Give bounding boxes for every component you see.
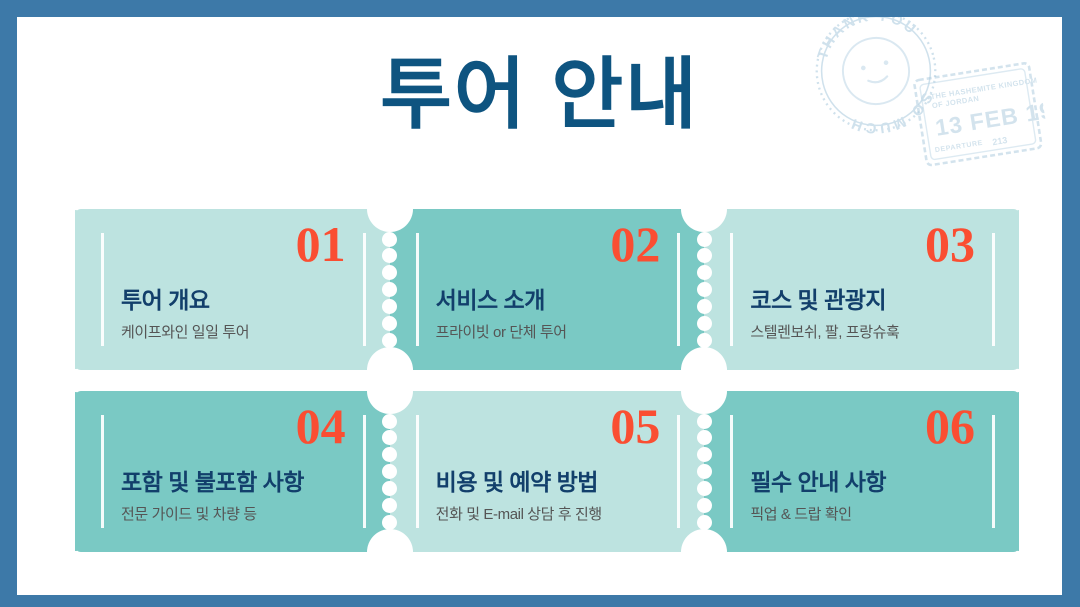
ticket-row-bottom: 04 포함 및 불포함 사항 전문 가이드 및 차량 등 05 비용 및 예약 …	[75, 391, 1019, 552]
ticket-content: 04 포함 및 불포함 사항 전문 가이드 및 차량 등	[121, 391, 348, 552]
ticket-number: 01	[296, 219, 346, 269]
ticket-rule-left	[730, 233, 733, 346]
ticket-subtitle: 케이프와인 일일 투어	[121, 321, 249, 342]
ticket-subtitle: 스텔렌보쉬, 팔, 프랑슈훅	[750, 321, 899, 342]
ticket-title: 서비스 소개	[436, 281, 545, 315]
ticket-content: 01 투어 개요 케이프와인 일일 투어	[121, 209, 348, 370]
ticket-rule-right	[677, 233, 680, 346]
ticket-content: 02 서비스 소개 프라이빗 or 단체 투어	[436, 209, 663, 370]
ticket-rule-left	[416, 415, 419, 528]
ticket-content: 03 코스 및 관광지 스텔렌보쉬, 팔, 프랑슈훅	[750, 209, 977, 370]
slide-frame: THANK YOU SO MUCH THE HASHEMITE KINGDOM …	[0, 0, 1080, 607]
ticket-number: 03	[925, 219, 975, 269]
ticket-number: 05	[610, 401, 660, 451]
ticket-content: 06 필수 안내 사항 픽업 & 드랍 확인	[750, 391, 977, 552]
ticket-number: 06	[925, 401, 975, 451]
ticket-card-06[interactable]: 06 필수 안내 사항 픽업 & 드랍 확인	[704, 391, 1019, 552]
ticket-rule-right	[992, 415, 995, 528]
ticket-title: 포함 및 불포함 사항	[121, 463, 304, 497]
ticket-number: 04	[296, 401, 346, 451]
ticket-title: 투어 개요	[121, 281, 210, 315]
ticket-subtitle: 전문 가이드 및 차량 등	[121, 503, 257, 524]
ticket-rule-left	[101, 233, 104, 346]
ticket-title: 필수 안내 사항	[750, 463, 886, 497]
ticket-card-01[interactable]: 01 투어 개요 케이프와인 일일 투어	[75, 209, 390, 370]
ticket-card-02[interactable]: 02 서비스 소개 프라이빗 or 단체 투어	[390, 209, 705, 370]
ticket-rule-right	[363, 415, 366, 528]
ticket-card-04[interactable]: 04 포함 및 불포함 사항 전문 가이드 및 차량 등	[75, 391, 390, 552]
ticket-rule-right	[363, 233, 366, 346]
ticket-title: 비용 및 예약 방법	[436, 463, 598, 497]
ticket-rule-left	[101, 415, 104, 528]
page-title: 투어 안내	[17, 55, 1062, 133]
ticket-content: 05 비용 및 예약 방법 전화 및 E-mail 상담 후 진행	[436, 391, 663, 552]
ticket-rule-right	[677, 415, 680, 528]
ticket-subtitle: 프라이빗 or 단체 투어	[436, 321, 567, 342]
svg-text:213: 213	[992, 135, 1008, 147]
ticket-rule-left	[730, 415, 733, 528]
ticket-subtitle: 전화 및 E-mail 상담 후 진행	[436, 503, 602, 524]
ticket-card-05[interactable]: 05 비용 및 예약 방법 전화 및 E-mail 상담 후 진행	[390, 391, 705, 552]
ticket-row-top: 01 투어 개요 케이프와인 일일 투어 02 서비스 소개 프라이빗 or 단…	[75, 209, 1019, 370]
slide-canvas: THANK YOU SO MUCH THE HASHEMITE KINGDOM …	[17, 17, 1062, 595]
svg-text:DEPARTURE: DEPARTURE	[935, 140, 984, 154]
ticket-number: 02	[610, 219, 660, 269]
ticket-card-03[interactable]: 03 코스 및 관광지 스텔렌보쉬, 팔, 프랑슈훅	[704, 209, 1019, 370]
ticket-title: 코스 및 관광지	[750, 281, 886, 315]
ticket-subtitle: 픽업 & 드랍 확인	[750, 503, 851, 524]
ticket-rule-left	[416, 233, 419, 346]
ticket-rule-right	[992, 233, 995, 346]
